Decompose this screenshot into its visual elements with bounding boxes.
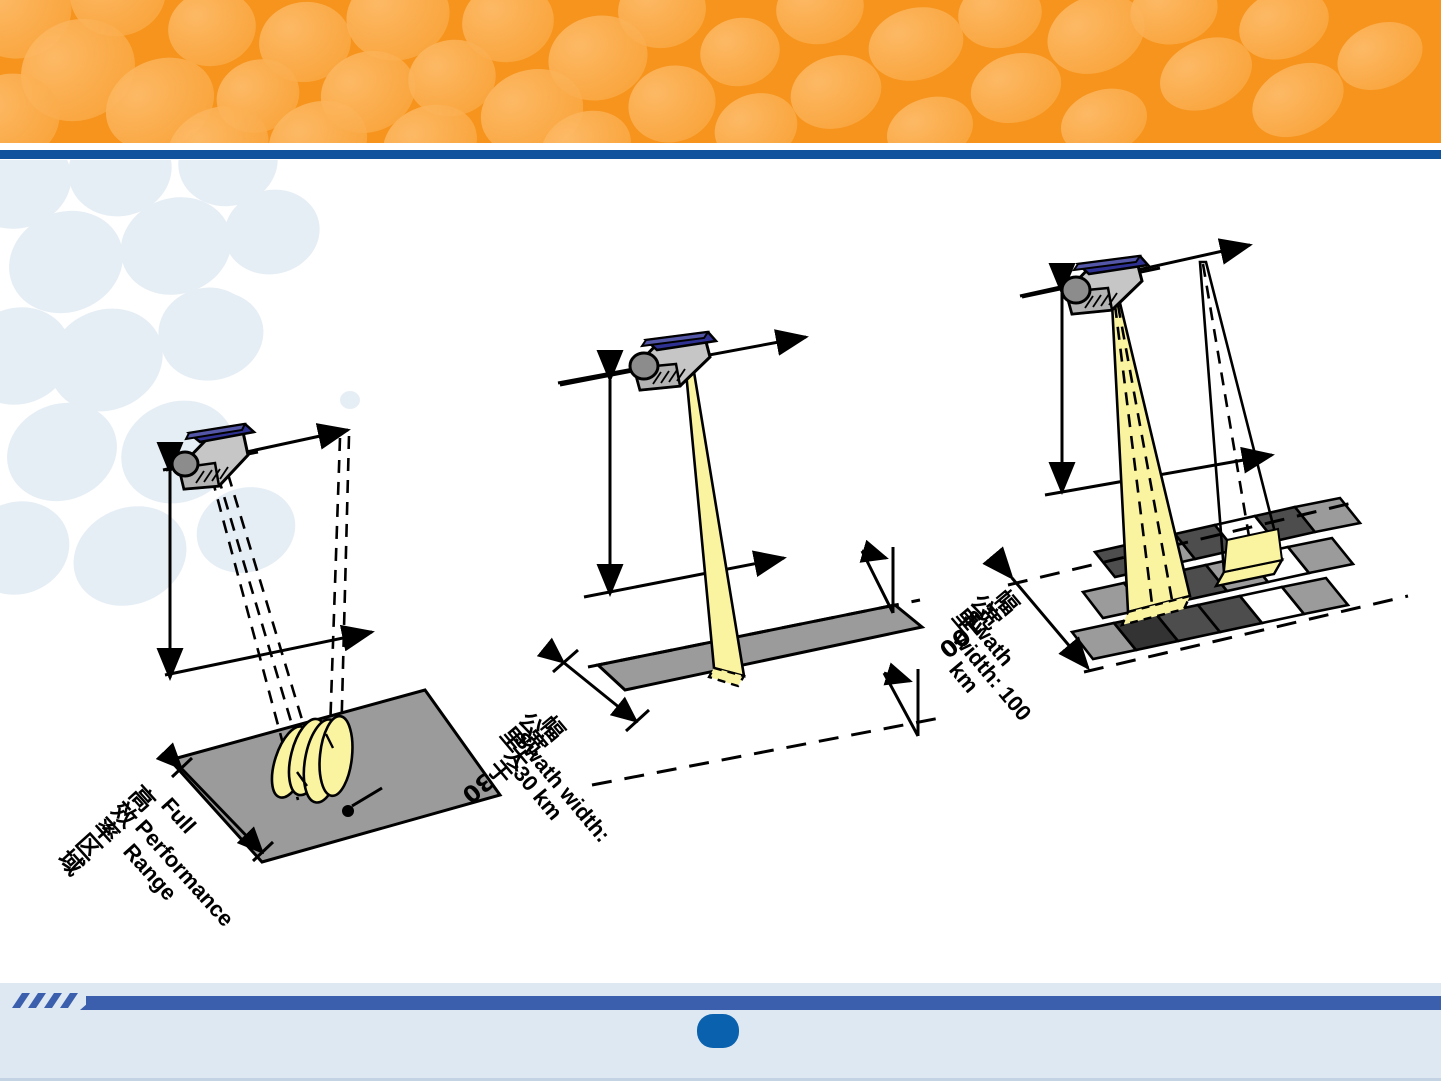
slide-footer <box>0 0 1441 1081</box>
footer-page-dot[interactable] <box>697 1014 739 1048</box>
presentation-slide: 高效率区域 Full Performance Range <box>0 0 1441 1081</box>
